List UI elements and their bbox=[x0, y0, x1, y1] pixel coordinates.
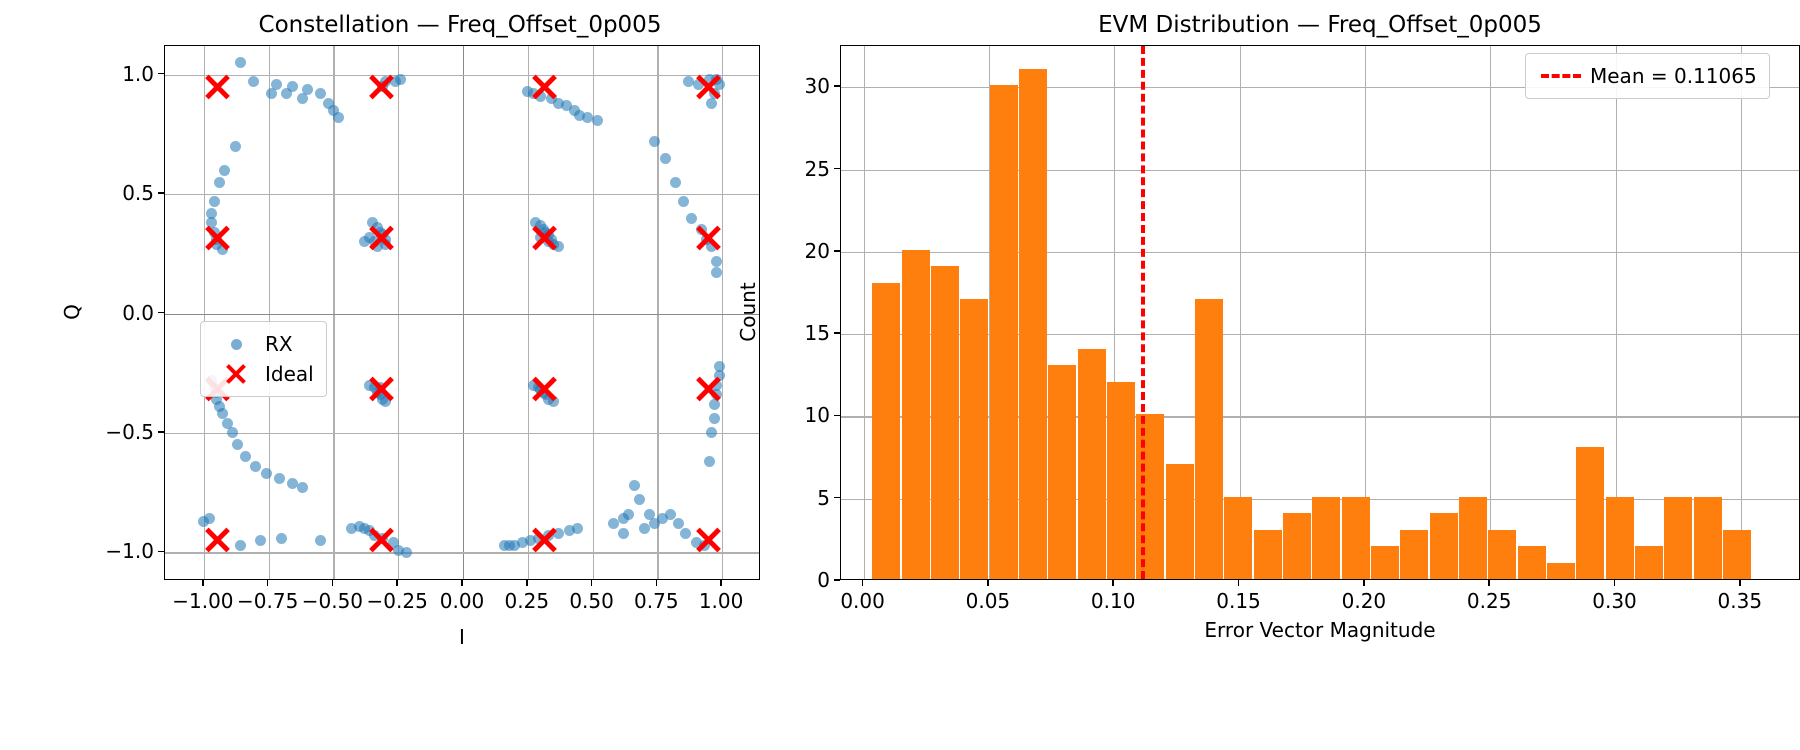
rx-data-point bbox=[704, 456, 715, 467]
ytick-label: 15 bbox=[792, 321, 830, 345]
xtick-label: 0.50 bbox=[569, 589, 614, 613]
gridline-vertical bbox=[333, 46, 334, 579]
xtick-mark bbox=[1739, 580, 1741, 586]
gridline-vertical bbox=[398, 46, 399, 579]
histogram-bar bbox=[1166, 464, 1194, 579]
xtick-label: 0.30 bbox=[1592, 589, 1637, 613]
histogram-bar bbox=[1312, 497, 1340, 579]
ideal-constellation-marker bbox=[694, 374, 724, 404]
xtick-mark bbox=[267, 580, 269, 586]
rx-data-point bbox=[297, 482, 308, 493]
rx-data-point bbox=[639, 523, 650, 534]
dashed-line-icon bbox=[1538, 74, 1584, 78]
ytick-mark bbox=[834, 168, 840, 170]
rx-data-point bbox=[665, 509, 676, 520]
ytick-mark bbox=[834, 85, 840, 87]
ytick-label: 0.0 bbox=[102, 301, 154, 325]
gridline-horizontal bbox=[165, 433, 759, 434]
xtick-label: 0.20 bbox=[1342, 589, 1387, 613]
rx-data-point bbox=[333, 112, 344, 123]
rx-data-point bbox=[248, 76, 259, 87]
ideal-constellation-marker bbox=[366, 223, 396, 253]
legend-label-mean: Mean = 0.11065 bbox=[1584, 64, 1757, 88]
rx-data-point bbox=[209, 196, 220, 207]
evm-legend[interactable]: Mean = 0.11065 bbox=[1525, 53, 1770, 99]
rx-data-point bbox=[255, 535, 266, 546]
xtick-mark bbox=[1238, 580, 1240, 586]
evm-histogram-panel: EVM Distribution — Freq_Offset_0p005 0.0… bbox=[800, 0, 1800, 750]
constellation-xlabel: I bbox=[459, 625, 465, 649]
ideal-constellation-marker bbox=[694, 223, 724, 253]
histogram-bar bbox=[931, 266, 959, 579]
evm-xlabel: Error Vector Magnitude bbox=[1204, 618, 1435, 642]
gridline-horizontal bbox=[165, 552, 759, 553]
histogram-bar bbox=[1019, 69, 1047, 579]
rx-data-point bbox=[572, 523, 583, 534]
ideal-constellation-marker bbox=[530, 374, 560, 404]
rx-data-point bbox=[287, 478, 298, 489]
histogram-bar bbox=[960, 299, 988, 579]
ideal-constellation-marker bbox=[202, 525, 232, 555]
ytick-label: 0 bbox=[792, 568, 830, 592]
rx-data-point bbox=[670, 177, 681, 188]
rx-data-point bbox=[230, 141, 241, 152]
legend-entry-mean[interactable]: Mean = 0.11065 bbox=[1538, 61, 1757, 91]
xtick-label: 0.35 bbox=[1718, 589, 1763, 613]
histogram-bar bbox=[1107, 382, 1135, 580]
rx-data-point bbox=[261, 468, 272, 479]
ideal-constellation-marker bbox=[366, 374, 396, 404]
rx-data-point bbox=[266, 88, 277, 99]
ytick-mark bbox=[834, 250, 840, 252]
gridline-horizontal bbox=[841, 170, 1799, 171]
xtick-label: −1.00 bbox=[172, 589, 233, 613]
xtick-label: 0.25 bbox=[1467, 589, 1512, 613]
ytick-label: 1.0 bbox=[102, 62, 154, 86]
histogram-bar bbox=[902, 250, 930, 579]
histogram-bar bbox=[1723, 530, 1751, 579]
ideal-constellation-marker bbox=[694, 72, 724, 102]
gridline-horizontal bbox=[841, 252, 1799, 253]
xtick-label: 0.05 bbox=[966, 589, 1011, 613]
ytick-label: 25 bbox=[792, 157, 830, 181]
rx-data-point bbox=[673, 518, 684, 529]
ideal-constellation-marker bbox=[366, 525, 396, 555]
rx-data-point bbox=[714, 361, 725, 372]
ytick-mark bbox=[834, 332, 840, 334]
ideal-constellation-marker bbox=[530, 525, 560, 555]
rx-data-point bbox=[678, 196, 689, 207]
histogram-bar bbox=[1430, 513, 1458, 579]
rx-data-point bbox=[711, 267, 722, 278]
gridline-vertical bbox=[269, 46, 270, 579]
legend-entry-rx[interactable]: RX bbox=[213, 329, 314, 359]
gridline-vertical bbox=[722, 46, 723, 579]
gridline-vertical bbox=[593, 46, 594, 579]
xtick-label: 0.25 bbox=[505, 589, 550, 613]
rx-data-point bbox=[649, 136, 660, 147]
ytick-mark bbox=[158, 431, 164, 433]
histogram-bar bbox=[1371, 546, 1399, 579]
rx-data-point bbox=[214, 177, 225, 188]
histogram-bar bbox=[1664, 497, 1692, 579]
histogram-bar bbox=[990, 85, 1018, 579]
histogram-bar bbox=[1254, 530, 1282, 579]
xtick-mark bbox=[1363, 580, 1365, 586]
histogram-bar bbox=[1459, 497, 1487, 579]
xtick-mark bbox=[396, 580, 398, 586]
evm-histogram-plot-area[interactable] bbox=[840, 45, 1800, 580]
rx-data-point bbox=[395, 74, 406, 85]
ytick-label: −1.0 bbox=[102, 539, 154, 563]
gridline-vertical bbox=[657, 46, 658, 579]
constellation-panel: Constellation — Freq_Offset_0p005 −1.00−… bbox=[0, 0, 800, 750]
ytick-mark bbox=[158, 312, 164, 314]
xtick-label: −0.75 bbox=[237, 589, 298, 613]
gridline-horizontal bbox=[165, 314, 759, 315]
rx-data-point bbox=[680, 528, 691, 539]
ideal-constellation-marker bbox=[530, 223, 560, 253]
rx-data-point bbox=[608, 518, 619, 529]
rx-data-point bbox=[227, 427, 238, 438]
rx-data-point bbox=[592, 115, 603, 126]
rx-data-point bbox=[297, 93, 308, 104]
xtick-mark bbox=[720, 580, 722, 586]
ytick-label: −0.5 bbox=[102, 420, 154, 444]
ytick-mark bbox=[834, 415, 840, 417]
ideal-constellation-marker bbox=[202, 72, 232, 102]
figure-canvas: Constellation — Freq_Offset_0p005 −1.00−… bbox=[0, 0, 1800, 750]
ideal-constellation-marker bbox=[694, 525, 724, 555]
evm-ylabel: Count bbox=[736, 282, 760, 341]
gridline-vertical bbox=[528, 46, 529, 579]
ytick-label: 10 bbox=[792, 403, 830, 427]
histogram-bar bbox=[1518, 546, 1546, 579]
xtick-mark bbox=[862, 580, 864, 586]
histogram-bar bbox=[872, 283, 900, 579]
ytick-mark bbox=[158, 73, 164, 75]
xtick-mark bbox=[656, 580, 658, 586]
histogram-bar bbox=[1078, 349, 1106, 580]
ideal-constellation-marker bbox=[202, 223, 232, 253]
rx-data-point bbox=[232, 439, 243, 450]
ideal-marker-icon bbox=[213, 362, 259, 386]
histogram-bar bbox=[1635, 546, 1663, 579]
rx-data-point bbox=[235, 540, 246, 551]
gridline-vertical bbox=[463, 46, 464, 579]
rx-data-point bbox=[274, 473, 285, 484]
histogram-bar bbox=[1488, 530, 1516, 579]
ytick-label: 0.5 bbox=[102, 181, 154, 205]
ytick-label: 5 bbox=[792, 486, 830, 510]
xtick-mark bbox=[1614, 580, 1616, 586]
xtick-label: 0.75 bbox=[634, 589, 679, 613]
histogram-bar bbox=[1195, 299, 1223, 579]
histogram-bar bbox=[1547, 563, 1575, 580]
constellation-title: Constellation — Freq_Offset_0p005 bbox=[160, 12, 760, 38]
gridline-vertical bbox=[204, 46, 205, 579]
rx-data-point bbox=[235, 57, 246, 68]
xtick-mark bbox=[202, 580, 204, 586]
xtick-label: 0.00 bbox=[440, 589, 485, 613]
xtick-mark bbox=[1112, 580, 1114, 586]
rx-data-point bbox=[686, 213, 697, 224]
rx-data-point bbox=[709, 413, 720, 424]
rx-data-point bbox=[281, 88, 292, 99]
rx-data-point bbox=[219, 165, 230, 176]
rx-data-point bbox=[315, 88, 326, 99]
ytick-mark bbox=[158, 551, 164, 553]
ideal-constellation-marker bbox=[366, 72, 396, 102]
rx-data-point bbox=[276, 533, 287, 544]
legend-entry-ideal[interactable]: Ideal bbox=[213, 359, 314, 389]
histogram-bar bbox=[1048, 365, 1076, 579]
constellation-ylabel: Q bbox=[60, 304, 84, 320]
ytick-label: 30 bbox=[792, 74, 830, 98]
histogram-bar bbox=[1283, 513, 1311, 579]
ideal-constellation-marker bbox=[530, 72, 560, 102]
xtick-mark bbox=[987, 580, 989, 586]
legend-label-rx: RX bbox=[259, 332, 293, 356]
xtick-label: 0.15 bbox=[1216, 589, 1261, 613]
xtick-label: 0.00 bbox=[840, 589, 885, 613]
xtick-mark bbox=[461, 580, 463, 586]
gridline-horizontal bbox=[165, 194, 759, 195]
rx-data-point bbox=[660, 153, 671, 164]
constellation-plot-area[interactable] bbox=[164, 45, 760, 580]
rx-data-point bbox=[683, 76, 694, 87]
ytick-mark bbox=[834, 497, 840, 499]
rx-data-point bbox=[634, 494, 645, 505]
histogram-bar bbox=[1224, 497, 1252, 579]
evm-histogram-title: EVM Distribution — Freq_Offset_0p005 bbox=[840, 12, 1800, 38]
xtick-label: 0.10 bbox=[1091, 589, 1136, 613]
legend-label-ideal: Ideal bbox=[259, 362, 314, 386]
histogram-bar bbox=[1606, 497, 1634, 579]
rx-marker-icon bbox=[213, 339, 259, 350]
xtick-mark bbox=[526, 580, 528, 586]
xtick-label: −0.50 bbox=[302, 589, 363, 613]
rx-data-point bbox=[618, 528, 629, 539]
constellation-legend[interactable]: RX Ideal bbox=[200, 321, 327, 397]
xtick-mark bbox=[1488, 580, 1490, 586]
rx-data-point bbox=[706, 427, 717, 438]
histogram-bar bbox=[1694, 497, 1722, 579]
rx-data-point bbox=[315, 535, 326, 546]
rx-data-point bbox=[250, 461, 261, 472]
ytick-mark bbox=[834, 579, 840, 581]
xtick-label: −0.25 bbox=[367, 589, 428, 613]
rx-data-point bbox=[711, 256, 722, 267]
mean-vertical-line bbox=[1141, 46, 1145, 579]
rx-data-point bbox=[401, 547, 412, 558]
rx-data-point bbox=[623, 509, 634, 520]
histogram-bar bbox=[1576, 447, 1604, 579]
xtick-mark bbox=[332, 580, 334, 586]
histogram-bar bbox=[1342, 497, 1370, 579]
histogram-bar bbox=[1400, 530, 1428, 579]
rx-data-point bbox=[629, 480, 640, 491]
rx-data-point bbox=[240, 451, 251, 462]
ytick-label: 20 bbox=[792, 239, 830, 263]
ytick-mark bbox=[158, 192, 164, 194]
xtick-label: 1.00 bbox=[699, 589, 744, 613]
xtick-mark bbox=[591, 580, 593, 586]
